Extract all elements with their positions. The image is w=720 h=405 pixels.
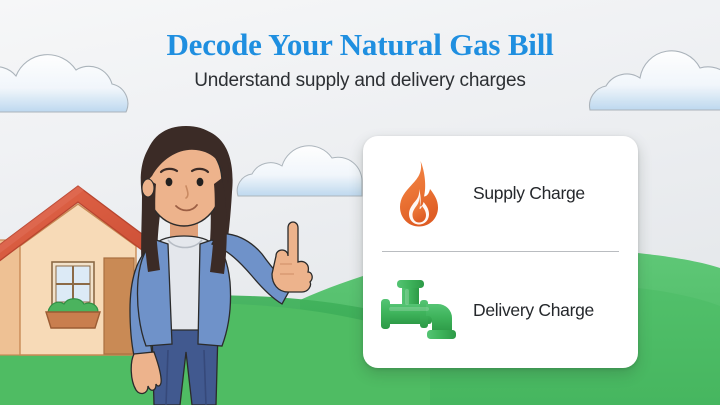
eye-left — [166, 178, 173, 186]
pipe-icon — [380, 276, 456, 346]
illustration-canvas: Decode Your Natural Gas Bill Understand … — [0, 0, 720, 405]
card-row-supply[interactable]: Supply Charge — [363, 136, 638, 251]
planter-box — [46, 312, 100, 328]
delivery-charge-label: Delivery Charge — [473, 300, 594, 321]
supply-icon-cell — [363, 136, 473, 251]
supply-charge-label: Supply Charge — [473, 183, 585, 204]
card-row-delivery[interactable]: Delivery Charge — [363, 253, 638, 368]
flame-icon — [390, 160, 446, 228]
delivery-icon-cell — [363, 253, 473, 368]
card-divider — [382, 251, 619, 252]
eye-right — [197, 178, 204, 186]
charges-card: Supply Charge — [363, 136, 638, 368]
ear-left — [142, 179, 154, 197]
